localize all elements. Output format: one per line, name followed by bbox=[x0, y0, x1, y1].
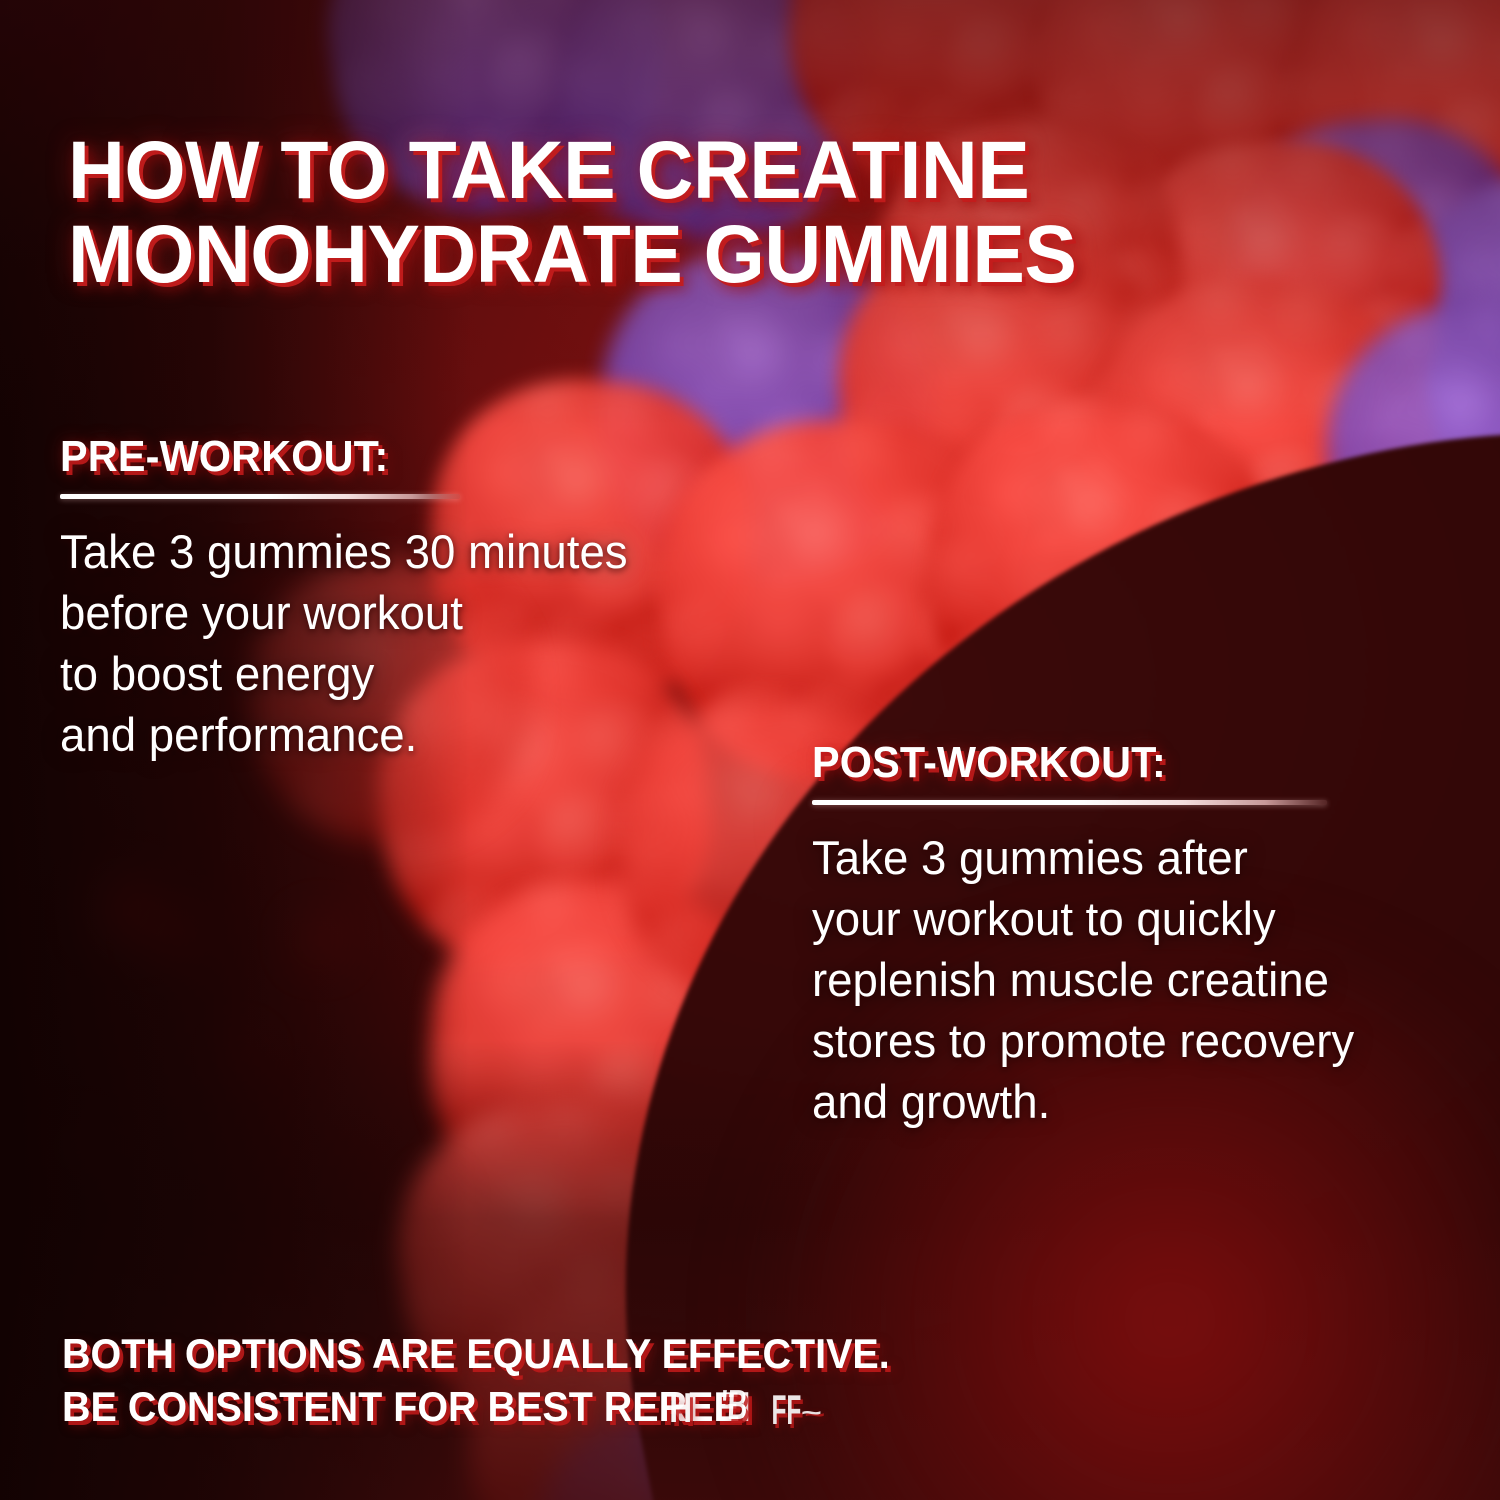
post-workout-underline bbox=[812, 800, 1327, 805]
pre-workout-body-line: Take 3 gummies 30 minutes bbox=[60, 521, 739, 582]
footer-line-2-text: BE CONSISTENT FOR BEST RE bbox=[62, 1383, 659, 1430]
pre-workout-body-line: and performance. bbox=[60, 704, 739, 765]
post-workout-panel: POST-WORKOUT: Take 3 gummies after your … bbox=[812, 738, 1472, 1132]
footer-line-1: BOTH OPTIONS ARE EQUALLY EFFECTIVE. bbox=[62, 1327, 1359, 1380]
title-line-2: MONOHYDRATE GUMMIES bbox=[68, 213, 1412, 297]
post-workout-heading: POST-WORKOUT: bbox=[812, 738, 1432, 788]
footer-callout: BOTH OPTIONS ARE EQUALLY EFFECTIVE. BE C… bbox=[62, 1327, 1359, 1434]
pre-workout-heading: PRE-WORKOUT: bbox=[60, 432, 718, 482]
footer-glitch-text: REEIH'bFF~ bbox=[659, 1380, 751, 1433]
glitch-fragment: 'b bbox=[719, 1378, 748, 1431]
pre-workout-panel: PRE-WORKOUT: Take 3 gummies 30 minutes b… bbox=[60, 432, 760, 765]
post-workout-body-line: and growth. bbox=[812, 1071, 1452, 1132]
pre-workout-body-line: to boost energy bbox=[60, 643, 739, 704]
page-title: HOW TO TAKE CREATINE MONOHYDRATE GUMMIES bbox=[68, 129, 1412, 296]
post-workout-body-line: replenish muscle creatine bbox=[812, 949, 1452, 1010]
post-workout-body: Take 3 gummies after your workout to qui… bbox=[812, 827, 1452, 1132]
glitch-fragment: H bbox=[669, 1381, 692, 1434]
footer-line-2: BE CONSISTENT FOR BEST REREEIH'bFF~ bbox=[62, 1380, 1359, 1433]
pre-workout-body: Take 3 gummies 30 minutes before your wo… bbox=[60, 521, 739, 765]
glitch-fragment: ~ bbox=[801, 1398, 822, 1427]
pre-workout-body-line: before your workout bbox=[60, 582, 739, 643]
infographic-poster: HOW TO TAKE CREATINE MONOHYDRATE GUMMIES… bbox=[0, 0, 1500, 1500]
post-workout-body-line: Take 3 gummies after bbox=[812, 827, 1452, 888]
post-workout-body-line: stores to promote recovery bbox=[812, 1010, 1452, 1071]
pre-workout-underline bbox=[60, 494, 460, 499]
post-workout-body-line: your workout to quickly bbox=[812, 888, 1452, 949]
glitch-fragment: FF bbox=[771, 1383, 801, 1436]
title-line-1: HOW TO TAKE CREATINE bbox=[68, 125, 1029, 216]
